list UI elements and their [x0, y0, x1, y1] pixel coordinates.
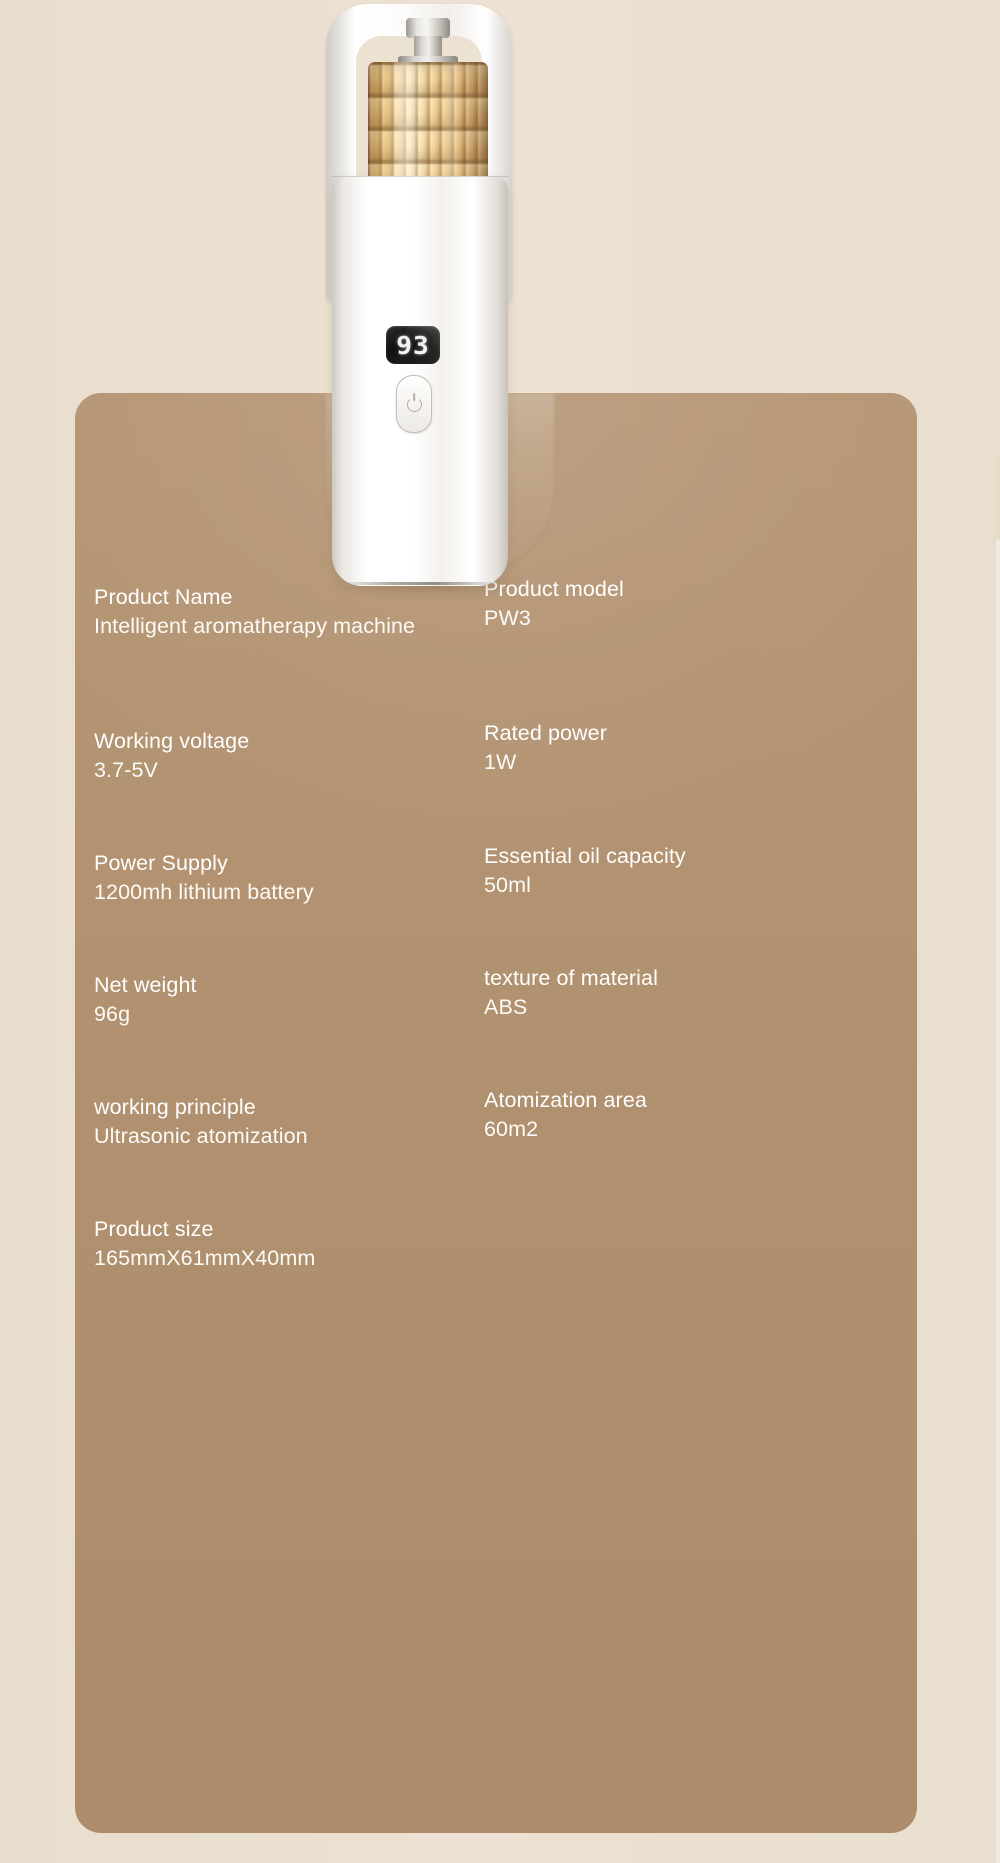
spec-label: texture of material	[484, 964, 904, 993]
spec-value: ABS	[484, 993, 904, 1022]
diffuser-metal-cap	[406, 18, 450, 38]
spec-label: Rated power	[484, 719, 904, 748]
spec-item-atomization-area: Atomization area 60m2	[484, 1086, 904, 1144]
specification-card: Product Name Intelligent aromatherapy ma…	[75, 393, 917, 1833]
spec-item-net-weight: Net weight 96g	[94, 971, 484, 1029]
spec-label: Atomization area	[484, 1086, 904, 1115]
product-spec-page: Product Name Intelligent aromatherapy ma…	[0, 0, 1000, 1863]
spec-value: 1200mh lithium battery	[94, 878, 484, 907]
spec-value: 3.7-5V	[94, 756, 484, 785]
spec-row: Power Supply 1200mh lithium battery Esse…	[75, 809, 917, 923]
spec-row: Net weight 96g texture of material ABS	[75, 923, 917, 1037]
spec-label: Working voltage	[94, 727, 484, 756]
body-bottom-edge	[344, 582, 496, 585]
power-icon	[407, 397, 422, 412]
specification-grid: Product Name Intelligent aromatherapy ma…	[75, 583, 917, 1265]
spec-item-product-size: Product size 165mmX61mmX40mm	[94, 1215, 484, 1273]
right-edge-strip	[994, 540, 1000, 1863]
spec-value: 50ml	[484, 871, 904, 900]
spec-row: Product size 165mmX61mmX40mm	[75, 1151, 917, 1265]
spec-label: Product size	[94, 1215, 484, 1244]
spec-row: working principle Ultrasonic atomization…	[75, 1037, 917, 1151]
spec-row: Working voltage 3.7-5V Rated power 1W	[75, 697, 917, 809]
spec-item-power-supply: Power Supply 1200mh lithium battery	[94, 849, 484, 907]
spec-label: Essential oil capacity	[484, 842, 904, 871]
spec-value: 60m2	[484, 1115, 904, 1144]
spec-item-working-voltage: Working voltage 3.7-5V	[94, 727, 484, 785]
led-glare	[400, 326, 440, 364]
spec-item-texture-of-material: texture of material ABS	[484, 964, 904, 1022]
spec-item-product-model: Product model PW3	[484, 575, 904, 633]
body-seam-line	[332, 176, 508, 177]
spec-label: Power Supply	[94, 849, 484, 878]
spec-label: working principle	[94, 1093, 484, 1122]
led-display: 93	[386, 326, 440, 364]
spec-value: 96g	[94, 1000, 484, 1029]
spec-label: Product model	[484, 575, 904, 604]
spec-value: PW3	[484, 604, 904, 633]
spec-label: Net weight	[94, 971, 484, 1000]
spec-row: Product Name Intelligent aromatherapy ma…	[75, 583, 917, 697]
power-button[interactable]	[396, 375, 432, 433]
spec-value: 1W	[484, 748, 904, 777]
spec-item-essential-oil-capacity: Essential oil capacity 50ml	[484, 842, 904, 900]
spec-value: Ultrasonic atomization	[94, 1122, 484, 1151]
spec-value: Intelligent aromatherapy machine	[94, 612, 484, 641]
product-image-aroma-diffuser: 93	[318, 0, 538, 600]
spec-value: 165mmX61mmX40mm	[94, 1244, 484, 1273]
right-edge-artifact	[990, 455, 1000, 545]
spec-item-working-principle: working principle Ultrasonic atomization	[94, 1093, 484, 1151]
spec-item-rated-power: Rated power 1W	[484, 719, 904, 777]
